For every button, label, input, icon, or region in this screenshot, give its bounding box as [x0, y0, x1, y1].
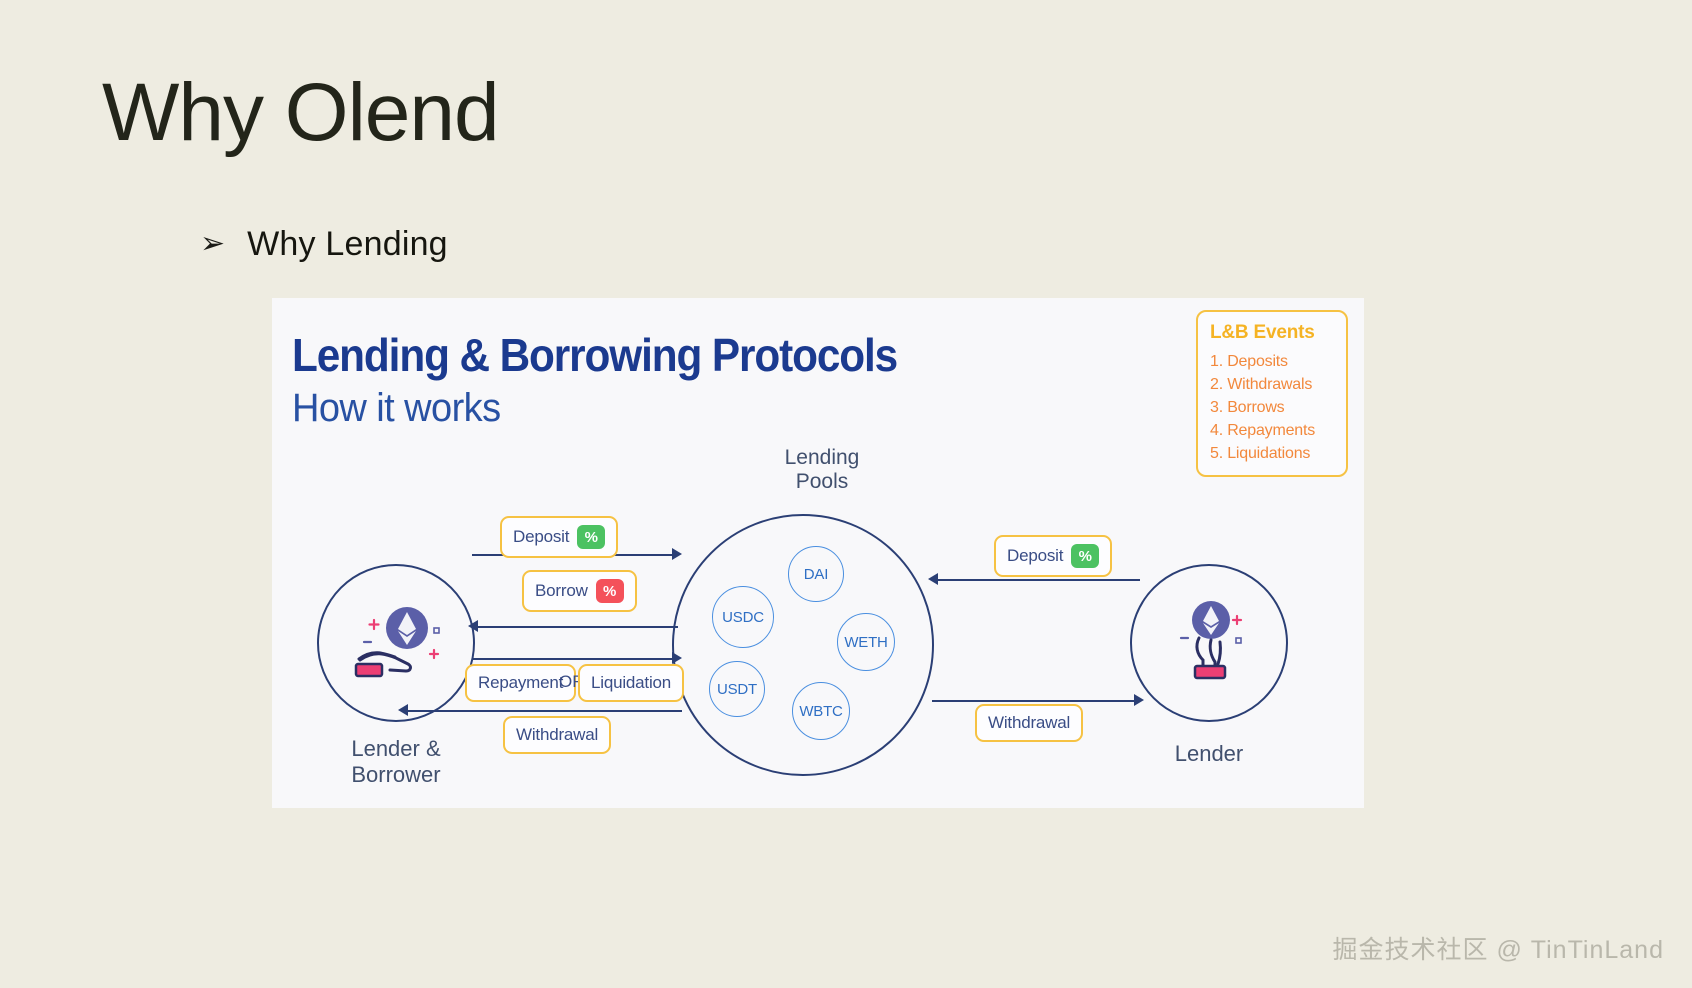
event-item: 1. Deposits	[1210, 353, 1334, 371]
chip-deposit-right[interactable]: Deposit %	[994, 535, 1112, 577]
chip-repayment-label: Repayment	[478, 673, 563, 693]
flow-arrow-deposit-right	[928, 573, 938, 585]
event-item: 4. Repayments	[1210, 422, 1334, 440]
token-circle-weth: WETH	[837, 613, 895, 671]
event-item: 5. Liquidations	[1210, 445, 1334, 463]
flow-arrow-deposit-left	[672, 548, 682, 560]
lender-borrower-label: Lender & Borrower	[311, 736, 481, 789]
bullet-row: ➢ Why Lending	[200, 225, 448, 264]
flow-line-deposit-right	[932, 579, 1140, 581]
actor-left-line2: Borrower	[311, 762, 481, 788]
actor-right-line1: Lender	[1124, 741, 1294, 767]
lender-label: Lender	[1124, 741, 1294, 767]
percent-badge-green: %	[1071, 544, 1099, 568]
chip-deposit-left[interactable]: Deposit %	[500, 516, 618, 558]
chip-deposit-right-label: Deposit	[1007, 546, 1063, 566]
flow-arrow-borrow-left	[468, 620, 478, 632]
diagram-panel: Lending & Borrowing Protocols How it wor…	[272, 298, 1364, 808]
chip-withdrawal-right-label: Withdrawal	[988, 713, 1070, 733]
pools-caption-line1: Lending	[757, 446, 887, 470]
diagram-subtitle: How it works	[292, 386, 501, 431]
chip-deposit-left-label: Deposit	[513, 527, 569, 547]
events-card: L&B Events 1. Deposits 2. Withdrawals 3.…	[1196, 310, 1348, 477]
token-circle-usdc: USDC	[712, 586, 774, 648]
percent-badge-green: %	[577, 525, 605, 549]
diagram-title: Lending & Borrowing Protocols	[292, 328, 897, 382]
token-circle-usdt: USDT	[709, 661, 765, 717]
flow-arrow-withdrawal-left	[398, 704, 408, 716]
arrow-bullet-icon: ➢	[200, 229, 225, 259]
percent-badge-red: %	[596, 579, 624, 603]
events-card-title: L&B Events	[1210, 322, 1334, 344]
chip-withdrawal-left-label: Withdrawal	[516, 725, 598, 745]
hand-holding-ethereum-icon	[350, 598, 442, 695]
chip-liquidation[interactable]: Liquidation	[578, 664, 684, 702]
chip-withdrawal-left[interactable]: Withdrawal	[503, 716, 611, 754]
event-item: 3. Borrows	[1210, 399, 1334, 417]
actor-left-line1: Lender &	[311, 736, 481, 762]
chip-borrow-left-label: Borrow	[535, 581, 588, 601]
flow-line-withdrawal-left	[402, 710, 682, 712]
flow-line-borrow-left	[472, 626, 678, 628]
page-title: Why Olend	[102, 72, 499, 154]
chip-withdrawal-right[interactable]: Withdrawal	[975, 704, 1083, 742]
token-circle-dai: DAI	[788, 546, 844, 602]
pools-caption-line2: Pools	[757, 470, 887, 494]
lending-pools-caption: Lending Pools	[757, 446, 887, 494]
flow-line-repayment	[472, 658, 678, 660]
bullet-label: Why Lending	[247, 225, 448, 264]
flow-arrow-repayment	[672, 652, 682, 664]
chip-liquidation-label: Liquidation	[591, 673, 671, 693]
token-circle-wbtc: WBTC	[792, 682, 850, 740]
hand-holding-ethereum-icon	[1165, 598, 1257, 695]
chip-borrow-left[interactable]: Borrow %	[522, 570, 637, 612]
flow-line-withdrawal-right	[932, 700, 1140, 702]
flow-arrow-withdrawal-right	[1134, 694, 1144, 706]
event-item: 2. Withdrawals	[1210, 376, 1334, 394]
watermark: 掘金技术社区 @ TinTinLand	[1333, 930, 1665, 966]
